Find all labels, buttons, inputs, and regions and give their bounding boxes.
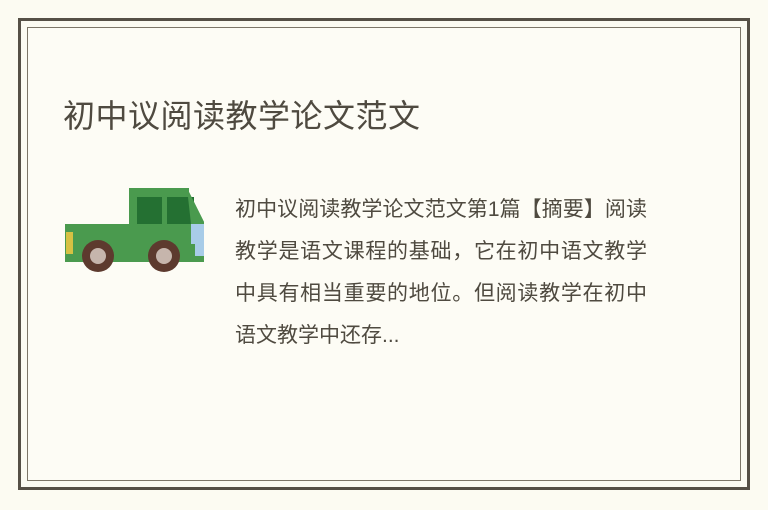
article-thumbnail bbox=[41, 186, 221, 272]
article-excerpt: 初中议阅读教学论文范文第1篇【摘要】阅读教学是语文课程的基础，它在初中语文教学中… bbox=[235, 189, 647, 357]
page-title: 初中议阅读教学论文范文 bbox=[63, 95, 421, 138]
green-pickup-truck-icon bbox=[59, 186, 204, 272]
article-card: 初中议阅读教学论文范文 bbox=[18, 18, 750, 490]
article-content-row: 初中议阅读教学论文范文第1篇【摘要】阅读教学是语文课程的基础，它在初中语文教学中… bbox=[28, 168, 740, 378]
article-card-inner-border: 初中议阅读教学论文范文 bbox=[27, 27, 741, 481]
